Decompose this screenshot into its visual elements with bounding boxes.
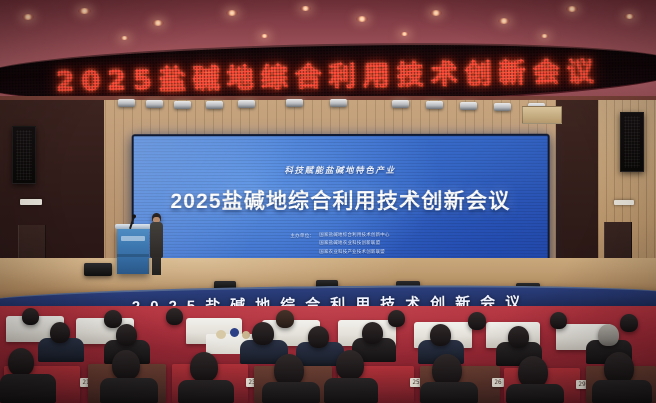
speaker-legs <box>152 257 161 275</box>
podium-top <box>115 224 151 229</box>
stage-light <box>426 101 443 109</box>
organizer-label: 主办单位： <box>290 231 314 240</box>
audience-head <box>598 324 619 346</box>
audience-shoulders <box>324 378 378 403</box>
right-wall-sign <box>614 200 634 205</box>
audience-head <box>22 308 39 325</box>
seat-number: 26 <box>492 378 504 387</box>
stage-light <box>392 100 409 108</box>
stage-light <box>238 100 255 108</box>
ceiling-downlight <box>430 10 442 16</box>
organizer-list: 国家盐碱地综合利用技术创新中心 国家盐碱地农业科技创新联盟 国家农业科技产业技术… <box>319 231 389 255</box>
audience-head <box>468 312 486 330</box>
led-banner-text: 2025盐碱地综合利用技术创新会议 <box>0 48 656 100</box>
ceiling-downlight <box>226 10 238 16</box>
stage-light <box>460 102 477 110</box>
stage-light <box>174 101 191 109</box>
stage-light <box>206 101 223 109</box>
audience-head <box>388 310 405 327</box>
podium-band <box>117 254 149 257</box>
audience-head <box>116 324 137 346</box>
stage-light <box>330 99 347 107</box>
audience-shoulders <box>506 384 564 403</box>
left-wall-sign <box>20 199 42 205</box>
ceiling-downlight <box>22 14 34 20</box>
projector-mount <box>522 106 562 124</box>
screen-title: 2025盐碱地综合利用技术创新会议 <box>170 185 510 215</box>
podium <box>117 228 149 274</box>
stage-light <box>118 99 135 107</box>
ceiling-downlight <box>566 6 578 12</box>
ceiling-downlight <box>356 16 368 22</box>
audience-head <box>362 322 383 344</box>
ceiling-downlight <box>120 36 129 40</box>
right-line-array-speaker <box>620 112 644 172</box>
organizer-item: 国家农业科技产业技术创新联盟 <box>319 248 389 256</box>
stage-light <box>494 103 511 111</box>
table-decor <box>242 331 250 339</box>
ceiling-downlight <box>260 34 269 38</box>
audience-shoulders <box>0 374 56 403</box>
audience-head <box>508 326 529 348</box>
audience-shoulders <box>592 380 652 403</box>
audience-shoulders <box>420 382 478 403</box>
table-decor <box>216 330 226 339</box>
organizer-item: 国家盐碱地综合利用技术创新中心 <box>319 231 389 239</box>
speaker-person <box>150 213 163 275</box>
speaker-body <box>150 222 163 258</box>
screen-organizers: 主办单位： 国家盐碱地综合利用技术创新中心 国家盐碱地农业科技创新联盟 国家农业… <box>290 231 389 255</box>
ceiling-downlight <box>78 8 91 14</box>
stage-light <box>286 99 303 107</box>
ceiling-downlight <box>540 34 549 38</box>
audience-head <box>252 322 274 345</box>
stage-light <box>146 100 163 108</box>
audience-shoulders <box>178 380 234 403</box>
ceiling-downlight <box>152 20 164 26</box>
audience-head <box>8 348 34 376</box>
audience-head <box>112 350 140 380</box>
audience-head <box>550 312 567 329</box>
left-line-array-speaker <box>12 126 36 184</box>
audience-shoulders <box>100 378 158 403</box>
audience-head <box>308 326 329 348</box>
table-decor <box>230 328 239 337</box>
ceiling-downlight <box>400 32 409 36</box>
audience-head <box>430 324 451 346</box>
audience-shoulders <box>262 382 320 403</box>
audience-head <box>276 310 294 328</box>
audience-head <box>620 314 638 332</box>
organizer-item: 国家盐碱地农业科技创新联盟 <box>319 239 389 247</box>
audience-head <box>336 350 364 380</box>
ceiling-downlight <box>624 14 635 19</box>
audience-head <box>50 322 70 343</box>
conference-hall-photo: 2025盐碱地综合利用技术创新会议 科技赋能盐碱地特色产业 2025盐碱地综合利… <box>0 0 656 403</box>
screen-subtitle: 科技赋能盐碱地特色产业 <box>284 164 395 176</box>
podium-nameplate <box>121 236 145 241</box>
ceiling-downlight <box>300 6 311 11</box>
ceiling-downlight <box>498 18 510 24</box>
audience-head <box>190 352 218 382</box>
floor-monitor-speaker <box>84 263 112 276</box>
audience-head <box>166 308 183 325</box>
